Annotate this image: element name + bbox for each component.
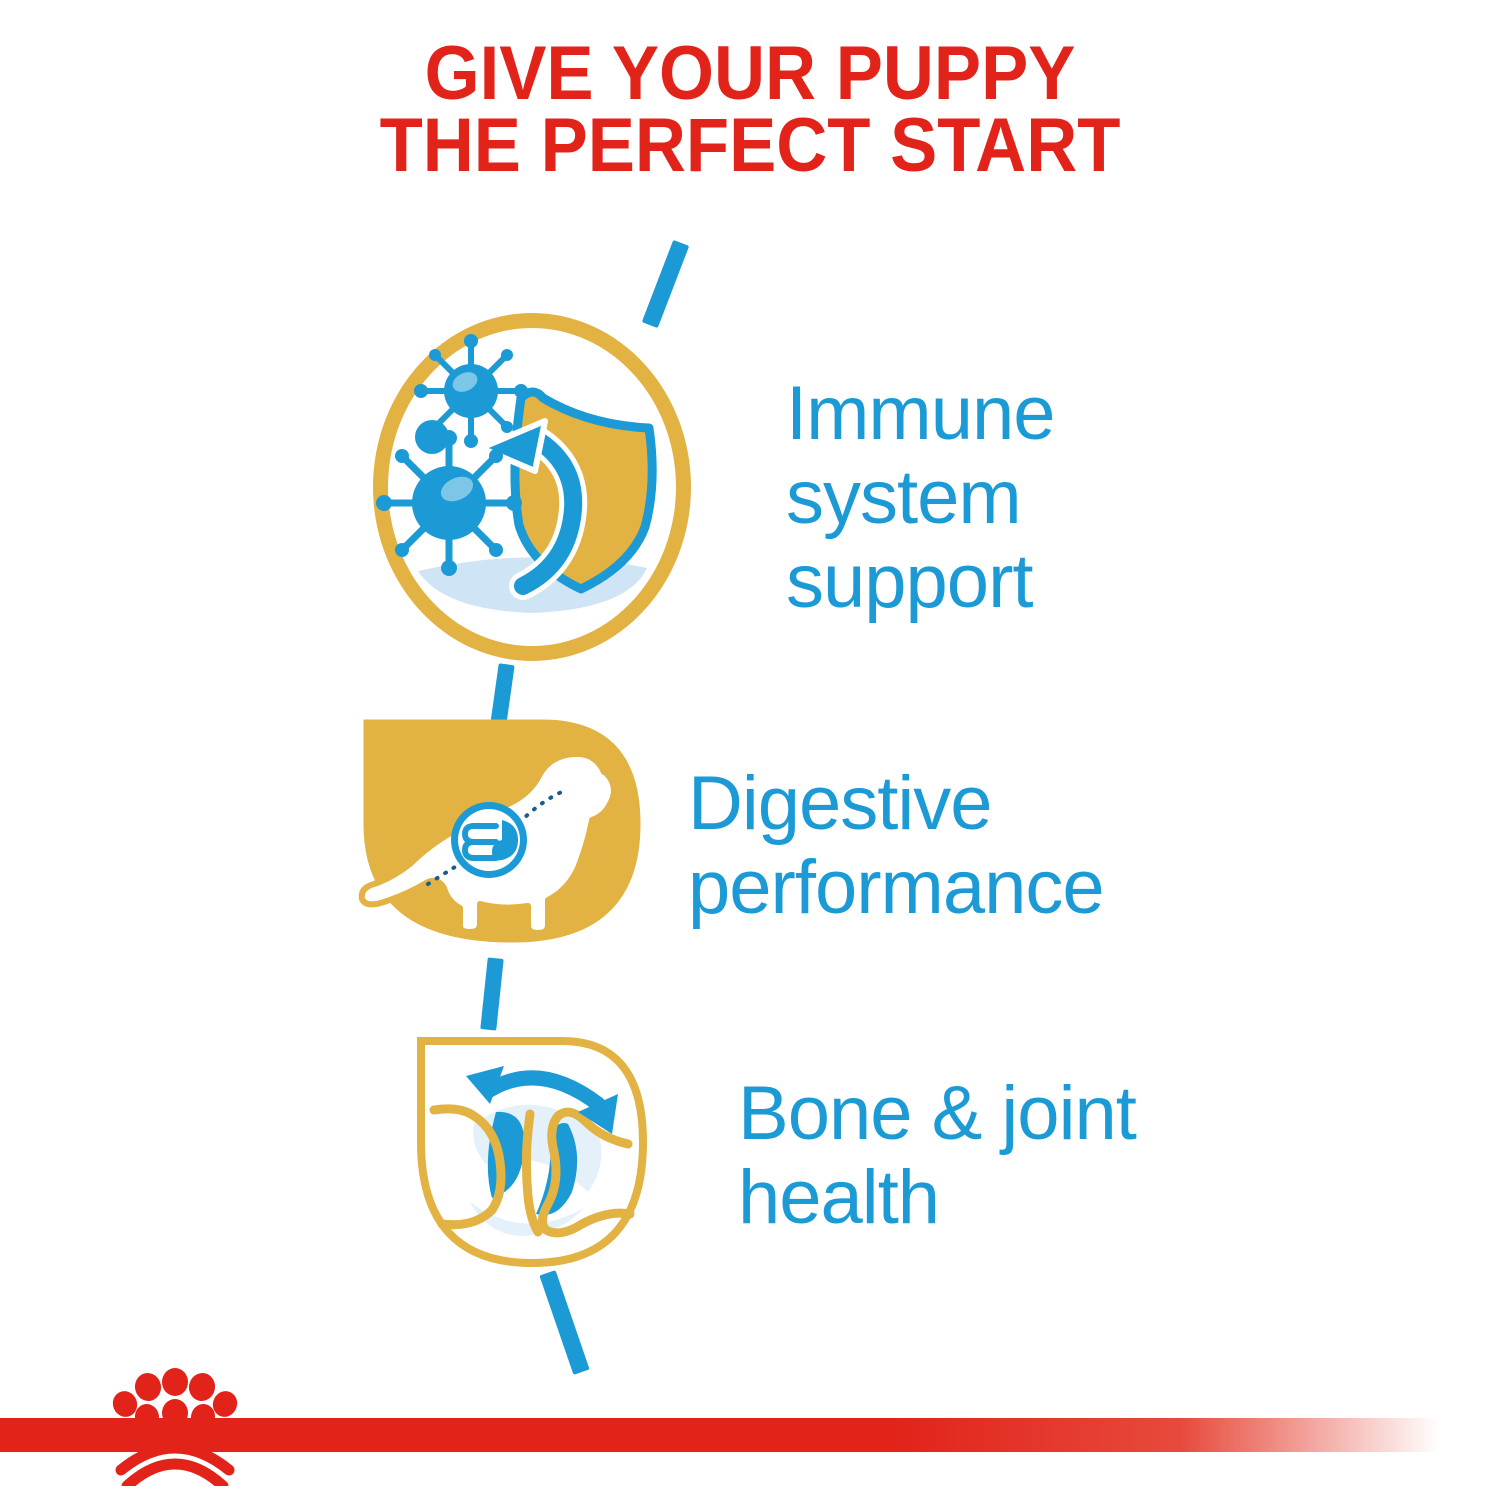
benefit-label-bone-joint: Bone & joint health	[738, 1072, 1136, 1240]
crown-icon	[105, 1368, 245, 1486]
page-title: GIVE YOUR PUPPY THE PERFECT START	[53, 38, 1448, 182]
dashed-path-segment-3	[480, 957, 503, 1030]
immune-shield-virus-icon	[373, 313, 691, 661]
headline-line-2: THE PERFECT START	[53, 110, 1448, 182]
digestive-dog-shield-icon	[352, 712, 652, 952]
bone-joint-shield-icon	[412, 1032, 652, 1272]
benefit-label-digestive: Digestive performance	[688, 762, 1104, 930]
infographic-canvas: GIVE YOUR PUPPY THE PERFECT START	[0, 0, 1500, 1500]
headline-line-1: GIVE YOUR PUPPY	[53, 38, 1448, 110]
dashed-path-segment-4	[539, 1270, 589, 1375]
benefit-label-immune: Immune system support	[786, 372, 1055, 624]
